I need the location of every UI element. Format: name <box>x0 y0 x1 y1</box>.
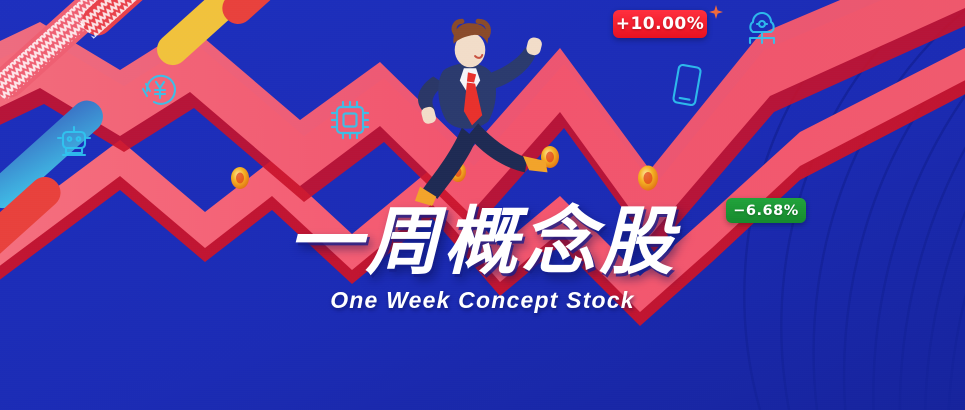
gain-badge: +10.00% <box>613 10 707 38</box>
banner-title-english: One Week Concept Stock <box>0 287 965 314</box>
title-block: 一周概念股 One Week Concept Stock <box>0 205 965 314</box>
promo-banner: +10.00% −6.68% 一周概念股 One Week Concept St… <box>0 0 965 410</box>
banner-title-chinese: 一周概念股 <box>0 205 965 279</box>
